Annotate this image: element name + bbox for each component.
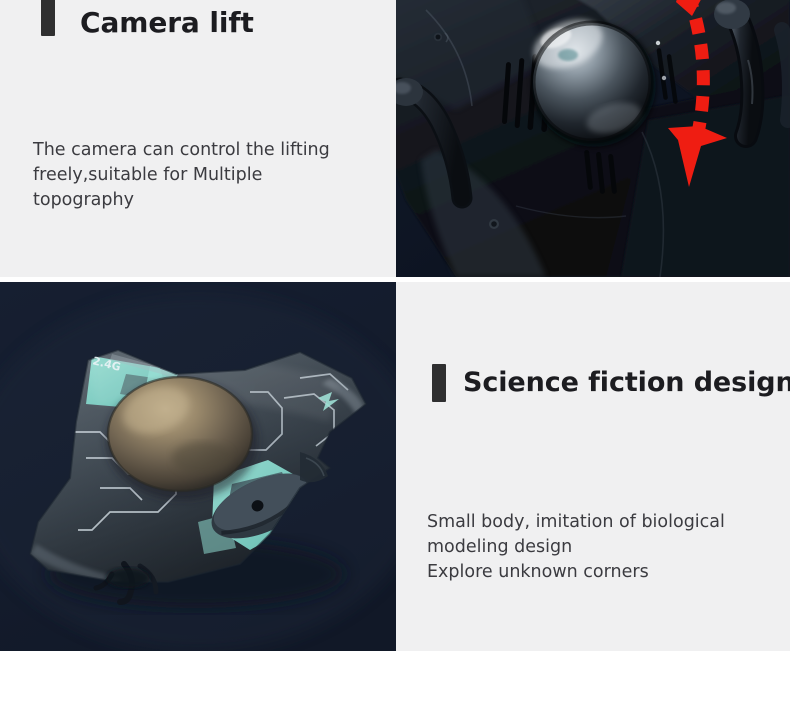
camera-lift-heading: Camera lift xyxy=(80,6,254,40)
product-feature-collage: Camera lift The camera can control the l… xyxy=(0,0,790,714)
panel-camera-lift: Camera lift The camera can control the l… xyxy=(0,0,396,277)
drone-product-photo: 2.4G xyxy=(0,282,396,651)
drone-product-illustration: 2.4G xyxy=(0,282,396,651)
accent-bar-icon xyxy=(432,364,446,402)
science-fiction-heading: Science fiction design xyxy=(463,366,790,400)
panel-science-fiction-design: Science fiction design Small body, imita… xyxy=(396,282,790,651)
camera-lift-body-text: The camera can control the lifting freel… xyxy=(33,138,363,213)
accent-bar-icon xyxy=(41,0,55,36)
drone-closeup-photo xyxy=(396,0,790,277)
drone-closeup-illustration xyxy=(396,0,790,277)
science-fiction-body-text: Small body, imitation of biological mode… xyxy=(427,510,767,585)
